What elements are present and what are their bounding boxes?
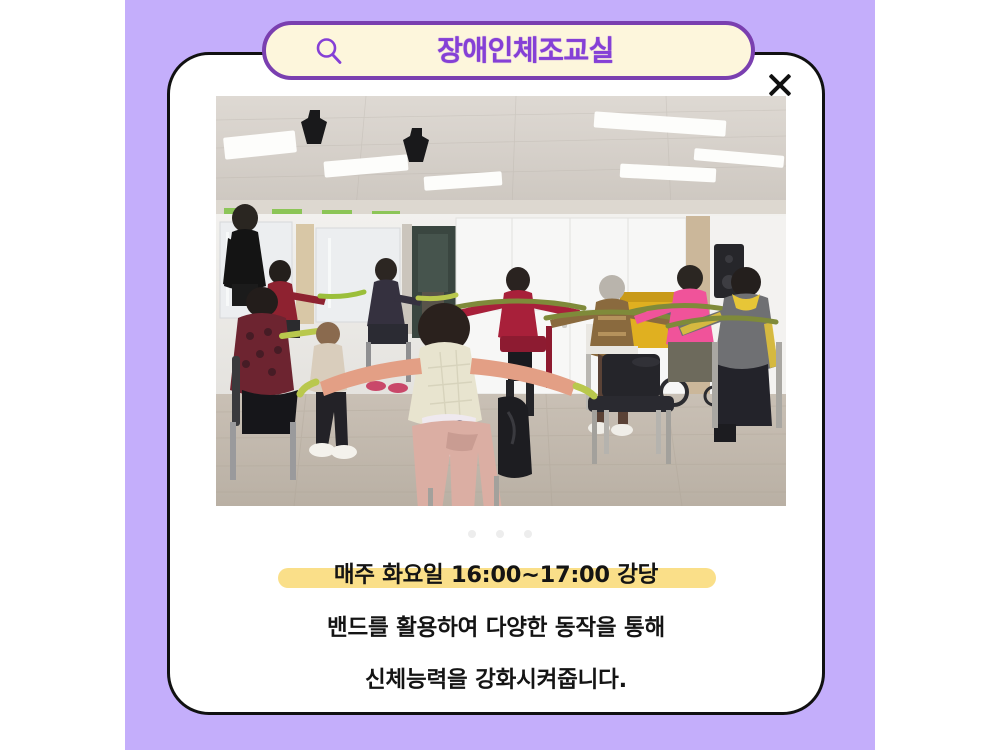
schedule-row: 매주 화요일 16:00~17:00 강당 [167,553,825,593]
schedule-text: 매주 화요일 16:00~17:00 강당 [334,562,658,588]
description-line-1: 밴드를 활용하여 다양한 동작을 통해 [167,610,825,642]
carousel-dot-2[interactable] [496,530,504,538]
carousel-dot-3[interactable] [524,530,532,538]
description-line-2: 신체능력을 강화시켜줍니다. [167,662,825,694]
screen-root: 장애인체조교실 매주 화요일 16:00~17:00 강당 밴드를 활용하여 다… [0,0,1000,750]
search-icon[interactable] [314,36,344,66]
program-title-bar: 장애인체조교실 [262,21,755,80]
close-icon[interactable] [764,69,796,101]
carousel-dots [0,530,1000,538]
program-photo[interactable] [216,96,786,506]
carousel-dot-1[interactable] [468,530,476,538]
